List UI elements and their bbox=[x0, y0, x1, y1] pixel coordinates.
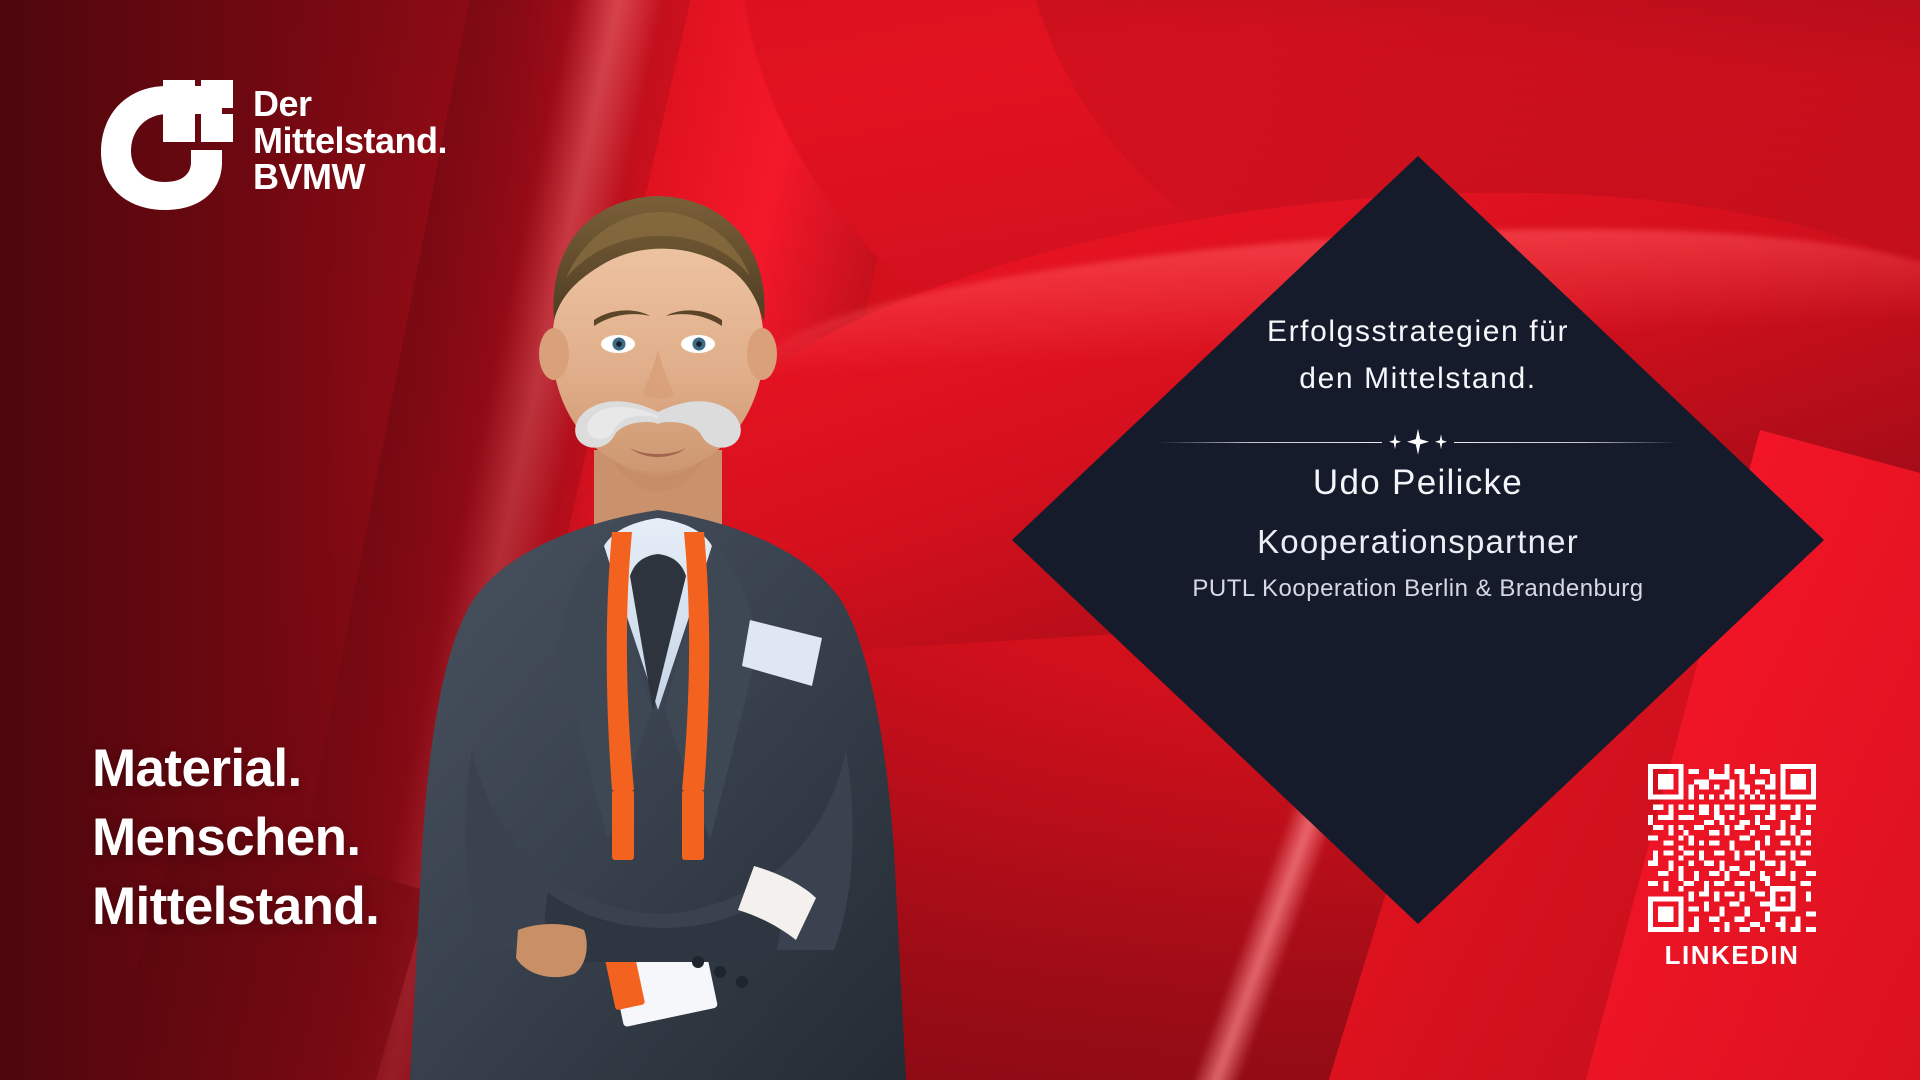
sparkle-divider-icon bbox=[1158, 429, 1678, 455]
sparkle-large-icon bbox=[1407, 429, 1429, 455]
claim-line-1: Material. bbox=[92, 735, 379, 804]
speaker-name: Udo Peilicke bbox=[1138, 463, 1698, 503]
qr-label: LINKEDIN bbox=[1648, 940, 1816, 971]
speaker-role: Kooperationspartner bbox=[1138, 523, 1698, 561]
sparkle-small-right-icon bbox=[1435, 434, 1447, 449]
brand-logo[interactable]: Der Mittelstand. BVMW bbox=[95, 80, 447, 215]
claim-line-2: Menschen. bbox=[92, 804, 379, 873]
speaker-info-content: Erfolgsstrategien für den Mittelstand. U… bbox=[1138, 308, 1698, 603]
diamond-headline-line-2: den Mittelstand. bbox=[1138, 355, 1698, 402]
claim-line-3: Mittelstand. bbox=[92, 873, 379, 942]
claim-text: Material. Menschen. Mittelstand. bbox=[92, 735, 379, 942]
divider-sparkles bbox=[1382, 429, 1454, 455]
bvmw-grid-logo-icon bbox=[95, 80, 235, 215]
linkedin-qr-block[interactable]: LINKEDIN bbox=[1648, 764, 1816, 971]
poster-canvas: Der Mittelstand. BVMW bbox=[0, 0, 1920, 1080]
sparkle-small-left-icon bbox=[1389, 434, 1401, 449]
brand-line-1: Der bbox=[253, 86, 447, 123]
qr-code-icon[interactable] bbox=[1648, 764, 1816, 932]
portrait-of-speaker bbox=[398, 150, 918, 1080]
speaker-organisation: PUTL Kooperation Berlin & Brandenburg bbox=[1138, 575, 1698, 603]
